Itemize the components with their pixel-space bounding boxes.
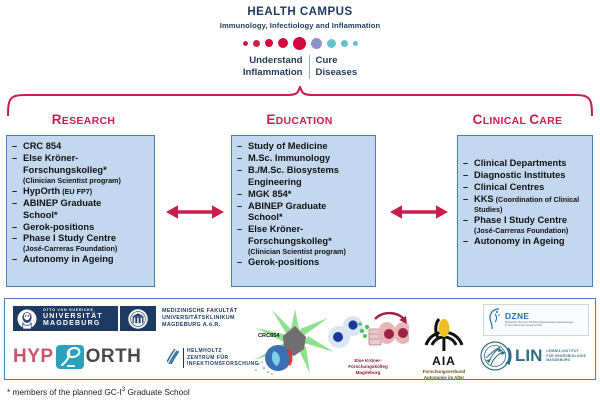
list-item-label: HypOrth xyxy=(23,186,60,196)
list-item: Forschungskolleg* xyxy=(12,165,150,176)
list-item-label: Else Kröner- xyxy=(248,224,303,234)
logo-hyporth: HYP ORTH xyxy=(13,343,163,371)
page-subtitle: Immunology, Infectiology and Inflammatio… xyxy=(0,20,600,31)
list-item-label: KKS xyxy=(474,194,494,204)
list-dash-marker: – xyxy=(237,165,242,176)
hyporth-mark-icon xyxy=(55,344,85,370)
list-item: –Diagnostic Institutes xyxy=(463,170,588,181)
list-dash-marker: – xyxy=(463,182,468,193)
education-title-rest: DUCATION xyxy=(276,115,333,127)
list-item: –KKS (Coordination of Clinical xyxy=(463,194,588,205)
university-seal-icon xyxy=(126,308,150,330)
list-dash-marker: – xyxy=(237,141,242,152)
dot-4 xyxy=(278,38,288,48)
education-list: –Study of Medicine–M.Sc. Immunology–B./M… xyxy=(237,141,371,269)
research-box: –CRC 854–Else Kröner-Forschungskolleg*(C… xyxy=(6,135,155,287)
list-item-label: Gerok-positions xyxy=(248,257,319,267)
ekf-line3: Magdeburg xyxy=(327,370,409,376)
else-kroener-cells-icon xyxy=(327,307,409,353)
header: HEALTH CAMPUS Immunology, Infectiology a… xyxy=(0,6,600,79)
list-dash-marker: – xyxy=(12,198,17,209)
claim-left: Understand Inflammation xyxy=(243,55,309,79)
list-item-label: ABINEP Graduate xyxy=(248,201,326,211)
list-item: –Phase I Study Centre xyxy=(12,233,150,244)
helmholtz-line1: HELMHOLTZ xyxy=(187,348,259,355)
research-list: –CRC 854–Else Kröner-Forschungskolleg*(C… xyxy=(12,141,150,266)
list-item-label: Autonomy in Ageing xyxy=(474,236,565,246)
list-dash-marker: – xyxy=(12,186,17,197)
list-item-label: Diagnostic Institutes xyxy=(474,170,565,180)
clinical-title-rest-b: ARE xyxy=(539,115,562,127)
list-dash-marker: – xyxy=(463,194,468,205)
bidirectional-arrow-icon-right xyxy=(390,203,448,221)
dzne-line2: in der Helmholtz-Gemeinschaft xyxy=(505,324,573,327)
ovgu-line3: MAGDEBURG xyxy=(43,320,103,328)
list-dash-marker: – xyxy=(237,224,242,235)
column-title-research: RESEARCH xyxy=(6,112,161,127)
list-item-suffix: (EU FP7) xyxy=(60,187,92,196)
list-item-label: CRC 854 xyxy=(23,141,61,151)
page-title: HEALTH CAMPUS xyxy=(0,6,600,19)
list-item-label: B./M.Sc. Biosystems xyxy=(248,165,339,175)
clinical-title-cap-a: C xyxy=(473,112,483,127)
list-item-label: Phase I Study Centre xyxy=(23,233,116,243)
claim-right: Cure Diseases xyxy=(310,55,358,79)
ovgu-line2: UNIVERSITÄT xyxy=(43,313,103,321)
footnote: * members of the planned GC-I3 Graduate … xyxy=(7,387,190,397)
footnote-pre: * members of the planned GC-I xyxy=(7,387,122,397)
dot-9 xyxy=(353,41,358,46)
list-item: School* xyxy=(237,212,371,223)
list-dash-marker: – xyxy=(12,254,17,265)
research-title-cap: R xyxy=(52,112,62,127)
dot-3 xyxy=(265,39,273,47)
list-item-note: Studies) xyxy=(463,206,588,215)
dot-6 xyxy=(311,38,322,49)
list-item: –Else Kröner- xyxy=(12,153,150,164)
dzne-acronym: DZNE xyxy=(505,311,573,321)
list-item-suffix: (Coordination of Clinical xyxy=(494,195,579,204)
list-item: –Clinical Centres xyxy=(463,182,588,193)
list-item: –M.Sc. Immunology xyxy=(237,153,371,164)
list-item-label: Autonomy in Ageing xyxy=(23,254,114,264)
column-title-education: EDUCATION xyxy=(222,112,377,127)
list-item: –ABINEP Graduate xyxy=(12,198,150,209)
aia-line2: Autonomie im Alter xyxy=(408,375,480,381)
bidirectional-arrow-icon-left xyxy=(166,203,224,221)
education-box: –Study of Medicine–M.Sc. Immunology–B./M… xyxy=(231,135,376,287)
crc854-label: CRC854 xyxy=(258,333,280,339)
list-item: –HypOrth (EU FP7) xyxy=(12,186,150,197)
list-item: –Gerok-positions xyxy=(237,257,371,268)
aia-acronym: AIA xyxy=(408,354,480,368)
logo-else-kroener: Else Kröner- Forschungskolleg Magdeburg xyxy=(327,307,409,375)
dot-5 xyxy=(293,37,306,50)
hyporth-part1: HYP xyxy=(13,346,54,368)
list-item-label: Clinical Departments xyxy=(474,158,566,168)
aia-mark-icon xyxy=(408,311,480,353)
list-item-label: M.Sc. Immunology xyxy=(248,153,330,163)
logo-aia: AIA Forschungsverbund Autonomie im Alter xyxy=(408,311,480,373)
logo-lin: LIN LEIBNIZ-INSTITUT FÜR NEUROBIOLOGIE M… xyxy=(477,337,593,375)
clinical-care-box: –Clinical Departments–Diagnostic Institu… xyxy=(457,135,593,287)
list-item-label: MGK 854* xyxy=(248,189,291,199)
list-item: School* xyxy=(12,210,150,221)
list-dash-marker: – xyxy=(463,170,468,181)
logo-ovgu: OTTO VON GUERICKE UNIVERSITÄT MAGDEBURG xyxy=(13,306,118,331)
helmholtz-mark-icon xyxy=(167,349,179,367)
list-item-label: School* xyxy=(248,212,283,222)
list-dash-marker: – xyxy=(237,201,242,212)
list-item-note: (Clinician Scientist program) xyxy=(12,177,150,186)
list-dash-marker: – xyxy=(463,215,468,226)
crc854-cell-icon: CRC854 xyxy=(250,304,336,376)
list-item: –Else Kröner- xyxy=(237,224,371,235)
lin-line3: MAGDEBURG xyxy=(546,358,586,362)
partner-logo-panel: OTTO VON GUERICKE UNIVERSITÄT MAGDEBURG … xyxy=(4,298,596,380)
claim-right-line1: Cure xyxy=(316,55,358,67)
list-item: –Study of Medicine xyxy=(237,141,371,152)
claim-right-line2: Diseases xyxy=(316,67,358,79)
list-dash-marker: – xyxy=(463,236,468,247)
list-item-label: Engineering xyxy=(248,177,302,187)
dot-7 xyxy=(327,39,336,48)
list-item-label: Forschungskolleg* xyxy=(248,236,332,246)
guericke-portrait-icon xyxy=(15,308,39,330)
education-title-cap: E xyxy=(266,112,275,127)
hyporth-part2: ORTH xyxy=(86,346,142,368)
list-item: –Clinical Departments xyxy=(463,158,588,169)
health-campus-diagram: HEALTH CAMPUS Immunology, Infectiology a… xyxy=(0,0,600,408)
helmholtz-line3: INFEKTIONSFORSCHUNG xyxy=(187,361,259,368)
list-item: –MGK 854* xyxy=(237,189,371,200)
claim-left-line1: Understand xyxy=(243,55,303,67)
dot-8 xyxy=(341,40,348,47)
list-dash-marker: – xyxy=(237,257,242,268)
list-item-note: (José-Carreras Foundation) xyxy=(463,227,588,236)
list-item: –B./M.Sc. Biosystems xyxy=(237,165,371,176)
dot-gradient-graphic xyxy=(0,35,600,51)
list-dash-marker: – xyxy=(463,158,468,169)
list-dash-marker: – xyxy=(12,233,17,244)
list-item: –Phase I Study Centre xyxy=(463,215,588,226)
list-dash-marker: – xyxy=(12,141,17,152)
clinical-title-cap-b: C xyxy=(529,112,539,127)
lin-acronym: LIN xyxy=(515,346,542,366)
list-item: –ABINEP Graduate xyxy=(237,201,371,212)
dot-2 xyxy=(253,40,260,47)
list-item: –Autonomy in Ageing xyxy=(12,254,150,265)
list-item: –Gerok-positions xyxy=(12,222,150,233)
list-item-label: School* xyxy=(23,210,58,220)
clinical-care-list: –Clinical Departments–Diagnostic Institu… xyxy=(463,158,588,247)
dzne-head-icon xyxy=(488,308,503,330)
claim-block: Understand Inflammation Cure Diseases xyxy=(0,55,600,79)
list-item-note: (Clinician Scientist program) xyxy=(237,248,371,257)
logo-crc854: CRC854 xyxy=(250,304,336,376)
list-item: Engineering xyxy=(237,177,371,188)
list-item-label: Phase I Study Centre xyxy=(474,215,567,225)
helmholtz-line2: ZENTRUM FÜR xyxy=(187,355,259,362)
list-item-label: Clinical Centres xyxy=(474,182,544,192)
logo-medfak-seal xyxy=(120,306,156,331)
list-dash-marker: – xyxy=(12,222,17,233)
logo-dzne: DZNE Deutsches Zentrum für Neurodegenera… xyxy=(483,304,589,336)
list-dash-marker: – xyxy=(237,189,242,200)
research-title-rest: ESEARCH xyxy=(62,115,115,127)
list-item-label: Else Kröner- xyxy=(23,153,78,163)
list-item: Forschungskolleg* xyxy=(237,236,371,247)
dot-1 xyxy=(243,41,248,46)
list-dash-marker: – xyxy=(12,153,17,164)
claim-left-line2: Inflammation xyxy=(243,67,303,79)
lin-neuron-circle-icon xyxy=(477,338,513,374)
list-item-label: Forschungskolleg* xyxy=(23,165,107,175)
list-item-label: ABINEP Graduate xyxy=(23,198,101,208)
footnote-post: Graduate School xyxy=(125,387,190,397)
list-item-label: Gerok-positions xyxy=(23,222,94,232)
clinical-title-rest-a: LINICAL xyxy=(483,115,530,127)
list-item: –CRC 854 xyxy=(12,141,150,152)
list-dash-marker: – xyxy=(237,153,242,164)
list-item: –Autonomy in Ageing xyxy=(463,236,588,247)
list-item-label: Study of Medicine xyxy=(248,141,328,151)
list-item-note: (José-Carreras Foundation) xyxy=(12,245,150,254)
column-title-clinical-care: CLINICAL CARE xyxy=(440,112,595,127)
